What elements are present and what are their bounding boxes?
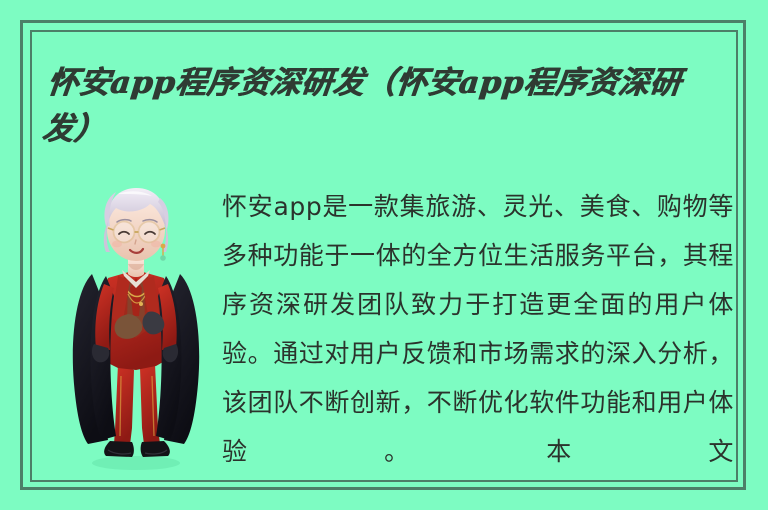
chibi-character-icon	[62, 178, 212, 474]
article-body: 怀安app是一款集旅游、灵光、美食、购物等多种功能于一体的全方位生活服务平台，其…	[222, 182, 734, 472]
page-title: 怀安app程序资深研发（怀安app程序资深研发）	[50, 60, 730, 152]
character-illustration	[62, 178, 212, 474]
article-body-text: 怀安app是一款集旅游、灵光、美食、购物等多种功能于一体的全方位生活服务平台，其…	[222, 182, 734, 476]
article-title-text: 怀安app程序资深研发（怀安app程序资深研发）	[40, 60, 730, 152]
article-card: 怀安app程序资深研发（怀安app程序资深研发）	[0, 0, 768, 510]
